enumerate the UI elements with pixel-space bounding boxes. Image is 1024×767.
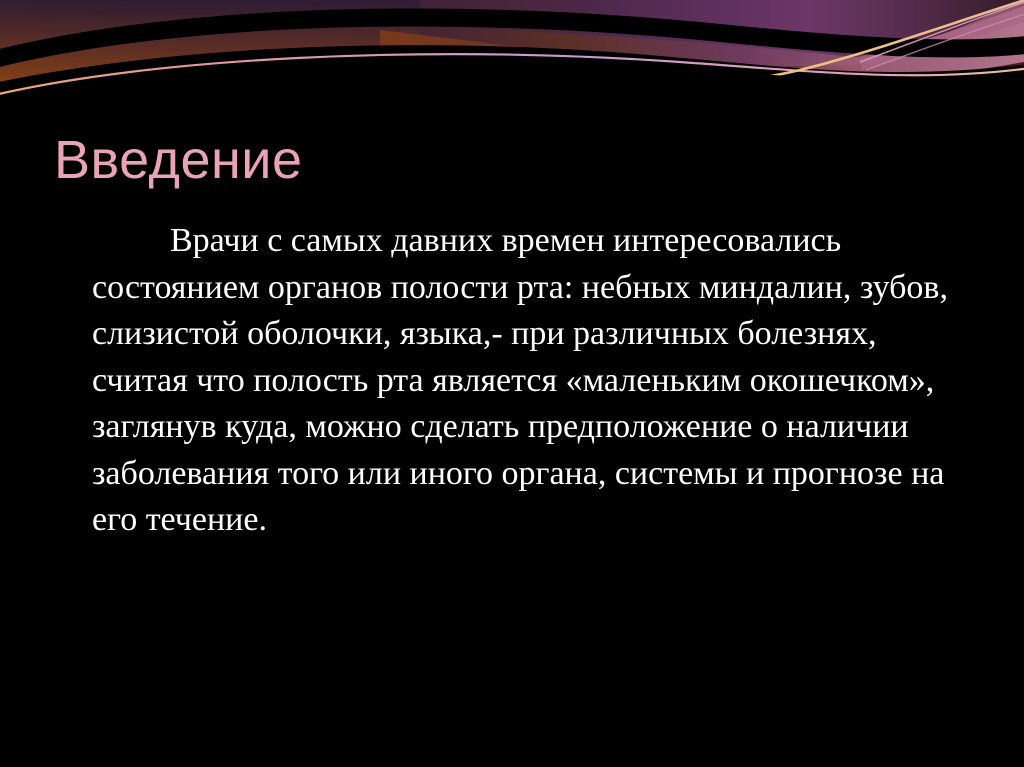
slide-root: Введение Врачи с самых давних времен инт…	[0, 0, 1024, 767]
banner-rose-ribbon	[700, 6, 1024, 92]
banner-bottom-black	[0, 60, 1024, 118]
swoosh-banner	[0, 0, 1024, 118]
banner-gold-line	[0, 0, 1024, 104]
banner-base	[0, 0, 1024, 118]
banner-black-mass	[0, 45, 1024, 118]
body-paragraph: Врачи с самых давних времен интересовали…	[92, 218, 964, 544]
banner-brown-ribbon	[380, 30, 1024, 98]
banner-pink-line	[0, 54, 1024, 96]
page-title: Введение	[54, 129, 303, 191]
banner-rose-strand-2	[866, 8, 1024, 70]
banner-black-arc-upper	[0, 8, 1024, 72]
swoosh-banner-graphic	[0, 0, 1024, 118]
banner-lilac-line	[0, 62, 1024, 103]
banner-purple-sweep	[300, 0, 1024, 78]
banner-rose-strand-1	[860, 0, 1024, 62]
banner-left-gradient	[0, 0, 420, 118]
slide-body: Врачи с самых давних времен интересовали…	[92, 218, 964, 544]
banner-silver-line	[0, 82, 780, 110]
banner-rose-ribbon-2	[860, 0, 1024, 70]
